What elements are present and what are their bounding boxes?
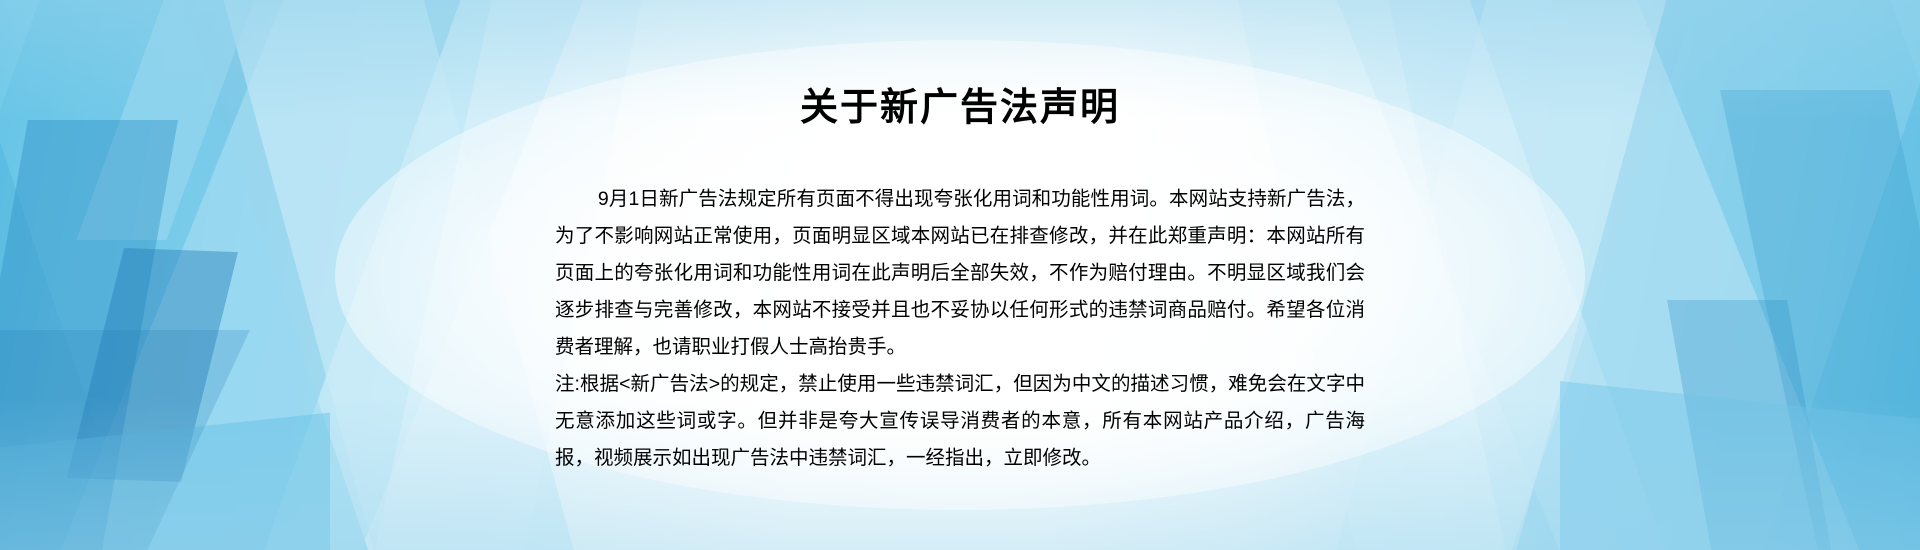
- statement-body: 9月1日新广告法规定所有页面不得出现夸张化用词和功能性用词。本网站支持新广告法，…: [555, 181, 1365, 477]
- statement-content: 关于新广告法声明 9月1日新广告法规定所有页面不得出现夸张化用词和功能性用词。本…: [0, 0, 1920, 550]
- advertising-law-statement-banner: 关于新广告法声明 9月1日新广告法规定所有页面不得出现夸张化用词和功能性用词。本…: [0, 0, 1920, 550]
- statement-paragraph-2: 注:根据<新广告法>的规定，禁止使用一些违禁词汇，但因为中文的描述习惯，难免会在…: [555, 366, 1365, 477]
- page-title: 关于新广告法声明: [800, 88, 1120, 130]
- statement-paragraph-1: 9月1日新广告法规定所有页面不得出现夸张化用词和功能性用词。本网站支持新广告法，…: [555, 181, 1365, 366]
